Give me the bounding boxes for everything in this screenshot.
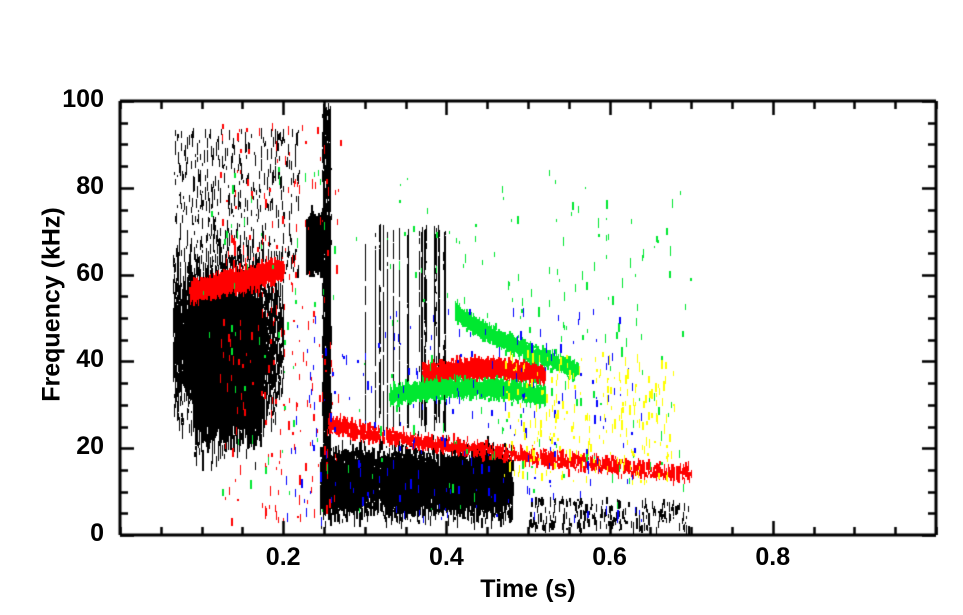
y-tick-label-20: 20 [24, 432, 104, 461]
y-tick-label-60: 60 [24, 259, 104, 288]
y-tick-label-80: 80 [24, 172, 104, 201]
plot-area: Frequency (kHz) Time (s) 0.20.40.60.8 02… [0, 0, 963, 615]
y-tick-label-40: 40 [24, 345, 104, 374]
x-tick-label-0.8: 0.8 [733, 543, 813, 572]
x-tick-label-0.2: 0.2 [243, 543, 323, 572]
x-tick-label-0.6: 0.6 [570, 543, 650, 572]
spectrogram-canvas [0, 0, 963, 615]
plot-page: Shot 142306 ωB(ω) spectrum for toroidal … [0, 0, 963, 615]
x-axis-label: Time (s) [120, 575, 936, 604]
x-tick-label-0.4: 0.4 [406, 543, 486, 572]
y-tick-label-100: 100 [24, 85, 104, 114]
y-tick-label-0: 0 [24, 519, 104, 548]
y-axis-label: Frequency (kHz) [38, 175, 67, 435]
